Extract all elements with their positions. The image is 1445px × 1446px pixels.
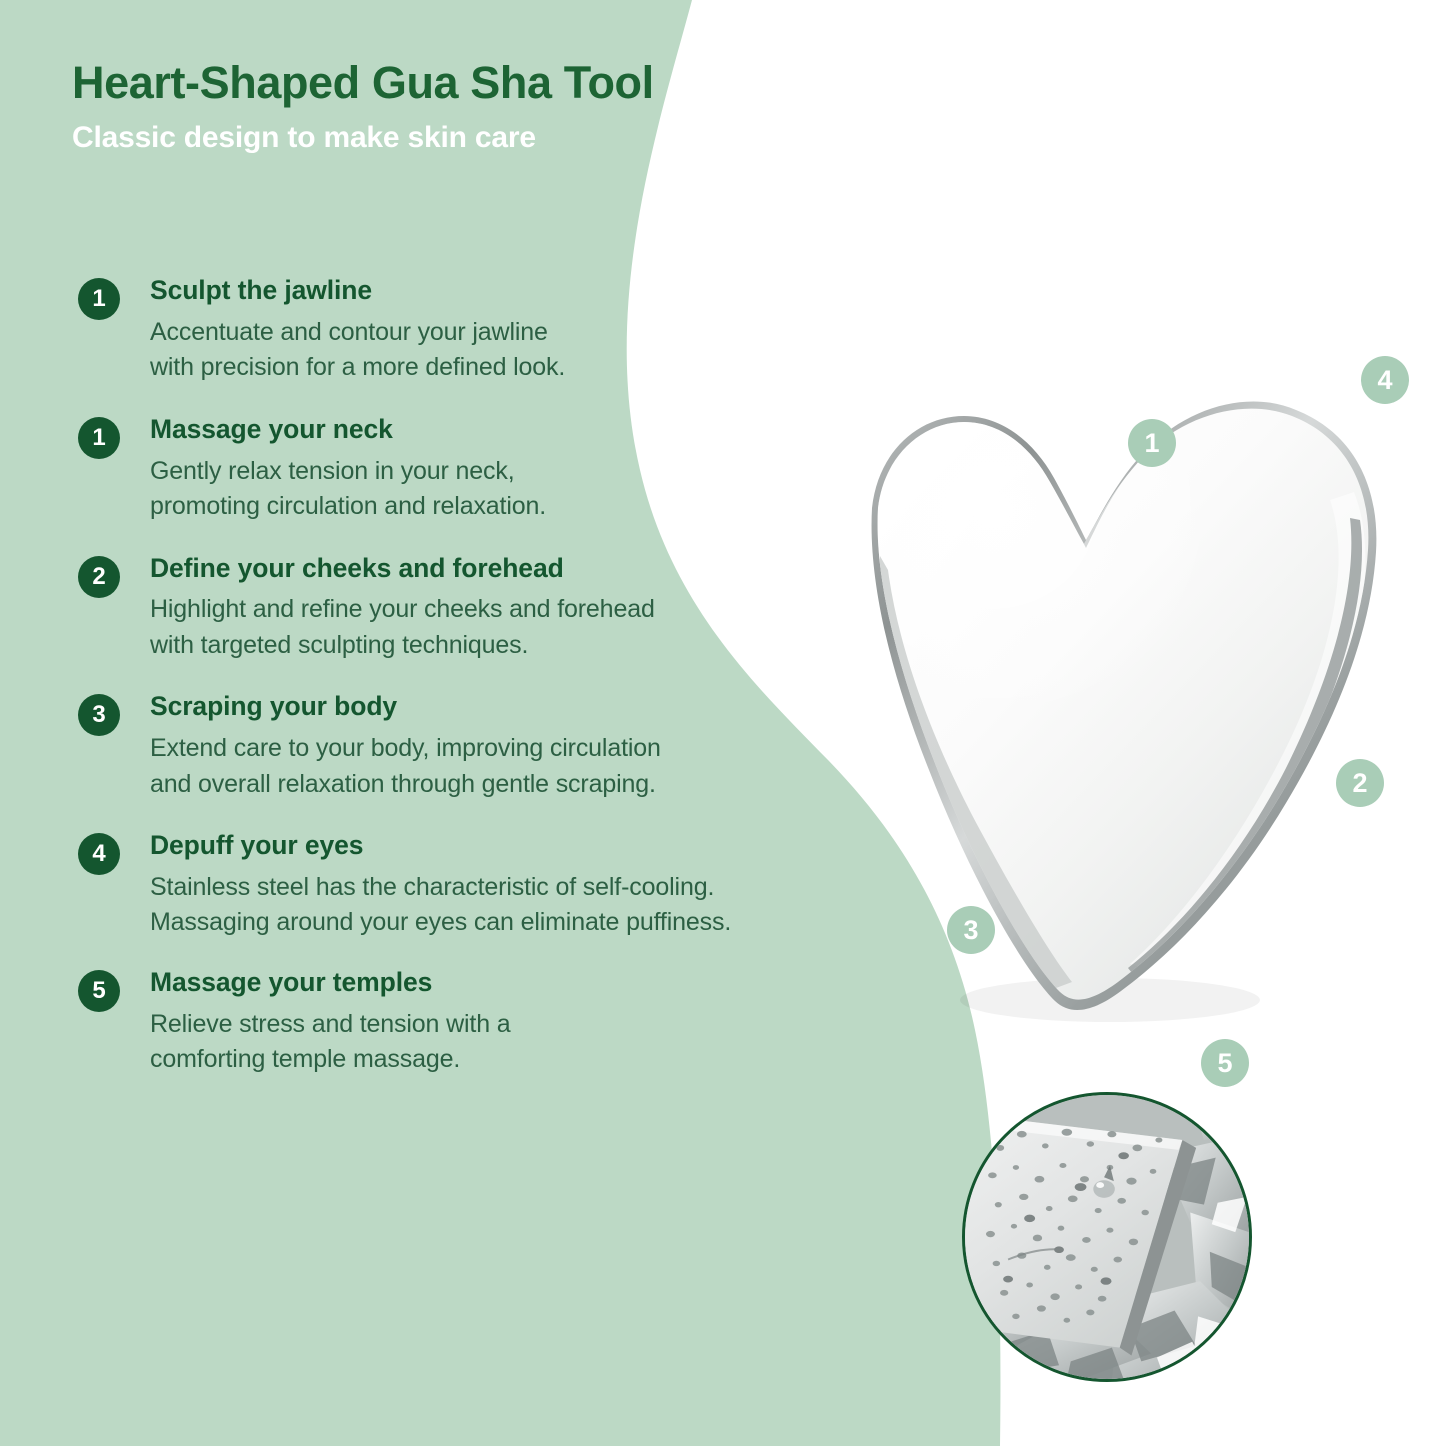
description-line: Stainless steel has the characteristic o…	[150, 870, 902, 906]
list-item-title: Scraping your body	[150, 691, 902, 723]
callout-badge-2: 2	[1336, 759, 1384, 807]
step-number-badge: 1	[78, 417, 120, 459]
page-title: Heart-Shaped Gua Sha Tool	[72, 58, 892, 108]
list-item-body: Depuff your eyes Stainless steel has the…	[72, 830, 902, 941]
list-item-description: Highlight and refine your cheeks and for…	[150, 592, 902, 663]
page-subtitle: Classic design to make skin care	[72, 121, 892, 155]
tool-metal-rim	[872, 401, 1377, 1010]
callout-badge-3: 3	[947, 906, 995, 954]
list-item: 1 Sculpt the jawline Accentuate and cont…	[72, 275, 902, 386]
description-line: and overall relaxation through gentle sc…	[150, 767, 902, 803]
list-item-description: Relieve stress and tension with a comfor…	[150, 1007, 902, 1078]
list-item-body: Define your cheeks and forehead Highligh…	[72, 553, 902, 664]
description-line: Highlight and refine your cheeks and for…	[150, 592, 902, 628]
list-item: 3 Scraping your body Extend care to your…	[72, 691, 902, 802]
tool-body	[878, 409, 1369, 1000]
feature-list: 1 Sculpt the jawline Accentuate and cont…	[72, 275, 902, 1102]
bevel-line-right	[1128, 518, 1362, 978]
infographic-root: Heart-Shaped Gua Sha Tool Classic design…	[0, 0, 1445, 1446]
list-item-body: Massage your temples Relieve stress and …	[72, 967, 902, 1078]
cleft-shading	[1056, 466, 1128, 548]
list-item-title: Depuff your eyes	[150, 830, 902, 862]
step-number-badge: 1	[78, 278, 120, 320]
tool-gloss	[860, 390, 1270, 790]
description-line: promoting circulation and relaxation.	[150, 489, 902, 525]
header: Heart-Shaped Gua Sha Tool Classic design…	[72, 58, 892, 155]
list-item-title: Sculpt the jawline	[150, 275, 902, 307]
step-number-badge: 4	[78, 833, 120, 875]
description-line: Relieve stress and tension with a	[150, 1007, 902, 1043]
list-item: 2 Define your cheeks and forehead Highli…	[72, 553, 902, 664]
list-item-body: Massage your neck Gently relax tension i…	[72, 414, 902, 525]
callout-badge-4: 4	[1361, 356, 1409, 404]
list-item-title: Massage your neck	[150, 414, 902, 446]
description-line: with targeted sculpting techniques.	[150, 628, 902, 664]
description-line: Accentuate and contour your jawline	[150, 315, 902, 351]
tool-shadow	[960, 978, 1260, 1022]
list-item: 1 Massage your neck Gently relax tension…	[72, 414, 902, 525]
description-line: with precision for a more defined look.	[150, 350, 902, 386]
ice-detail-inset	[962, 1092, 1252, 1382]
description-line: Gently relax tension in your neck,	[150, 454, 902, 490]
list-item-description: Extend care to your body, improving circ…	[150, 731, 902, 802]
list-item-title: Massage your temples	[150, 967, 902, 999]
list-item-description: Stainless steel has the characteristic o…	[150, 870, 902, 941]
list-item-description: Gently relax tension in your neck, promo…	[150, 454, 902, 525]
list-item-body: Sculpt the jawline Accentuate and contou…	[72, 275, 902, 386]
bevel-highlight-right	[1130, 492, 1365, 970]
tool-highlights	[860, 390, 1365, 988]
step-number-badge: 5	[78, 970, 120, 1012]
description-line: comforting temple massage.	[150, 1042, 902, 1078]
callout-badge-5: 5	[1201, 1039, 1249, 1087]
list-item: 5 Massage your temples Relieve stress an…	[72, 967, 902, 1078]
list-item-description: Accentuate and contour your jawline with…	[150, 315, 902, 386]
ice-detail-image	[965, 1095, 1249, 1379]
description-line: Extend care to your body, improving circ…	[150, 731, 902, 767]
step-number-badge: 2	[78, 556, 120, 598]
list-item: 4 Depuff your eyes Stainless steel has t…	[72, 830, 902, 941]
list-item-body: Scraping your body Extend care to your b…	[72, 691, 902, 802]
callout-badge-1: 1	[1128, 419, 1176, 467]
description-line: Massaging around your eyes can eliminate…	[150, 905, 902, 941]
list-item-title: Define your cheeks and forehead	[150, 553, 902, 585]
